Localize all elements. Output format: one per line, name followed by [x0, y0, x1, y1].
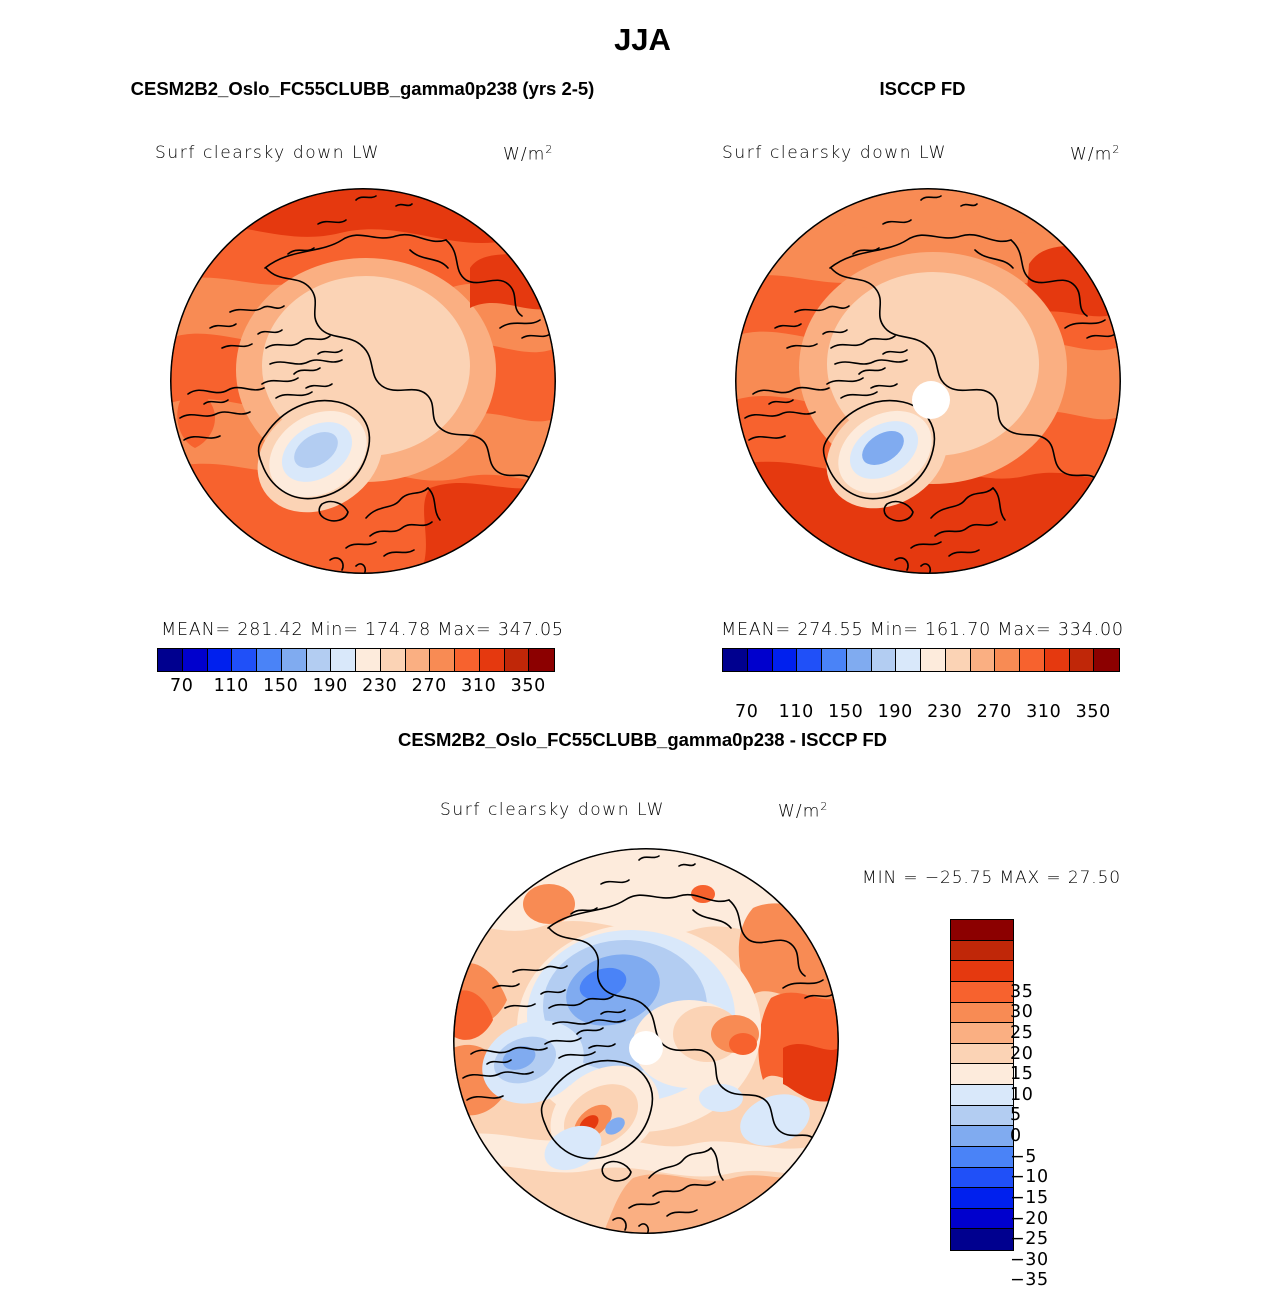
colorbar-cell	[951, 1044, 1013, 1065]
colorbar-tick-label: −5	[1010, 1147, 1037, 1167]
colorbar-cell	[951, 1168, 1013, 1189]
colorbar-cell	[723, 649, 748, 671]
colorbar-cell	[455, 649, 480, 671]
colorbar-cell	[430, 649, 455, 671]
colorbar-tick-label: 350	[511, 676, 546, 696]
colorbar-cell	[951, 1209, 1013, 1230]
colorbar-cell	[951, 961, 1013, 982]
colorbar-tick-label: 270	[977, 702, 1012, 722]
colorbar-cell	[921, 649, 946, 671]
colorbar-tick-label: 190	[878, 702, 913, 722]
left-colorbar-labels: 70110150190230270310350	[157, 676, 555, 702]
colorbar-tick-label: 230	[927, 702, 962, 722]
colorbar-tick-label: 150	[828, 702, 863, 722]
colorbar-cell	[529, 649, 554, 671]
colorbar-tick-label: 270	[412, 676, 447, 696]
colorbar-tick-label: 350	[1076, 702, 1111, 722]
colorbar-cell	[356, 649, 381, 671]
colorbar-cell	[797, 649, 822, 671]
colorbar-cell	[282, 649, 307, 671]
colorbar-tick-label: −25	[1010, 1229, 1049, 1249]
colorbar-cell	[995, 649, 1020, 671]
colorbar-cell	[307, 649, 332, 671]
colorbar-cell	[208, 649, 233, 671]
colorbar-tick-label: 30	[1010, 1002, 1033, 1022]
colorbar-cell	[1094, 649, 1119, 671]
left-units-label: W/m2	[503, 143, 552, 165]
colorbar-tick-label: −20	[1010, 1209, 1049, 1229]
colorbar-tick-label: 70	[170, 676, 193, 696]
colorbar-cell	[951, 1106, 1013, 1127]
colorbar-cell	[951, 1085, 1013, 1106]
colorbar-tick-label: 10	[1010, 1085, 1033, 1105]
right-stats: MEAN= 274.55 Min= 161.70 Max= 334.00	[560, 620, 1285, 640]
diff-colorbar-labels: 35302520151050−5−10−15−20−25−30−35	[1010, 971, 1080, 1301]
right-colorbar	[722, 648, 1120, 672]
colorbar-tick-label: 310	[1026, 702, 1061, 722]
colorbar-cell	[748, 649, 773, 671]
colorbar-tick-label: −35	[1010, 1270, 1049, 1290]
colorbar-tick-label: −30	[1010, 1250, 1049, 1270]
colorbar-cell	[951, 1064, 1013, 1085]
colorbar-tick-label: 230	[362, 676, 397, 696]
colorbar-tick-label: 110	[214, 676, 249, 696]
colorbar-tick-label: 310	[461, 676, 496, 696]
colorbar-cell	[183, 649, 208, 671]
diff-variable-label: Surf clearsky down LW	[440, 800, 665, 820]
colorbar-cell	[951, 1229, 1013, 1250]
colorbar-tick-label: 110	[779, 702, 814, 722]
colorbar-cell	[951, 1023, 1013, 1044]
colorbar-tick-label: 25	[1010, 1023, 1033, 1043]
colorbar-tick-label: −15	[1010, 1188, 1049, 1208]
colorbar-tick-label: 5	[1010, 1105, 1022, 1125]
colorbar-cell	[406, 649, 431, 671]
colorbar-tick-label: 150	[263, 676, 298, 696]
pole-data-gap	[912, 381, 950, 419]
colorbar-cell	[951, 1188, 1013, 1209]
colorbar-cell	[951, 941, 1013, 962]
colorbar-cell	[951, 920, 1013, 941]
colorbar-tick-label: 0	[1010, 1126, 1022, 1146]
colorbar-cell	[1070, 649, 1095, 671]
colorbar-cell	[331, 649, 356, 671]
season-title: JJA	[0, 22, 1285, 58]
left-variable-label: Surf clearsky down LW	[155, 143, 380, 163]
colorbar-cell	[232, 649, 257, 671]
colorbar-cell	[971, 649, 996, 671]
left-polar-map	[170, 188, 556, 574]
right-panel-title: ISCCP FD	[560, 78, 1285, 100]
pole-data-gap	[629, 1031, 663, 1065]
colorbar-cell	[1045, 649, 1070, 671]
colorbar-cell	[822, 649, 847, 671]
colorbar-cell	[1020, 649, 1045, 671]
colorbar-cell	[951, 982, 1013, 1003]
colorbar-cell	[257, 649, 282, 671]
colorbar-cell	[951, 1147, 1013, 1168]
colorbar-cell	[951, 1003, 1013, 1024]
colorbar-cell	[946, 649, 971, 671]
right-colorbar-labels: 70110150190230270310350	[722, 702, 1120, 728]
colorbar-cell	[505, 649, 530, 671]
colorbar-tick-label: −10	[1010, 1167, 1049, 1187]
colorbar-cell	[847, 649, 872, 671]
colorbar-cell	[381, 649, 406, 671]
colorbar-cell	[896, 649, 921, 671]
colorbar-cell	[872, 649, 897, 671]
diff-units-label: W/m2	[778, 800, 827, 822]
colorbar-cell	[951, 1126, 1013, 1147]
diff-panel-title: CESM2B2_Oslo_FC55CLUBB_gamma0p238 - ISCC…	[0, 729, 1285, 751]
right-variable-label: Surf clearsky down LW	[722, 143, 947, 163]
colorbar-cell	[773, 649, 798, 671]
diff-minmax: MIN = −25.75 MAX = 27.50	[862, 868, 1121, 888]
diff-colorbar	[950, 919, 1014, 1251]
colorbar-tick-label: 20	[1010, 1044, 1033, 1064]
right-units-label: W/m2	[1070, 143, 1119, 165]
colorbar-tick-label: 70	[735, 702, 758, 722]
colorbar-tick-label: 15	[1010, 1064, 1033, 1084]
colorbar-tick-label: 190	[313, 676, 348, 696]
colorbar-cell	[480, 649, 505, 671]
left-colorbar	[157, 648, 555, 672]
right-polar-map	[735, 188, 1121, 574]
colorbar-cell	[158, 649, 183, 671]
colorbar-tick-label: 35	[1010, 982, 1033, 1002]
diff-polar-map	[453, 848, 839, 1234]
